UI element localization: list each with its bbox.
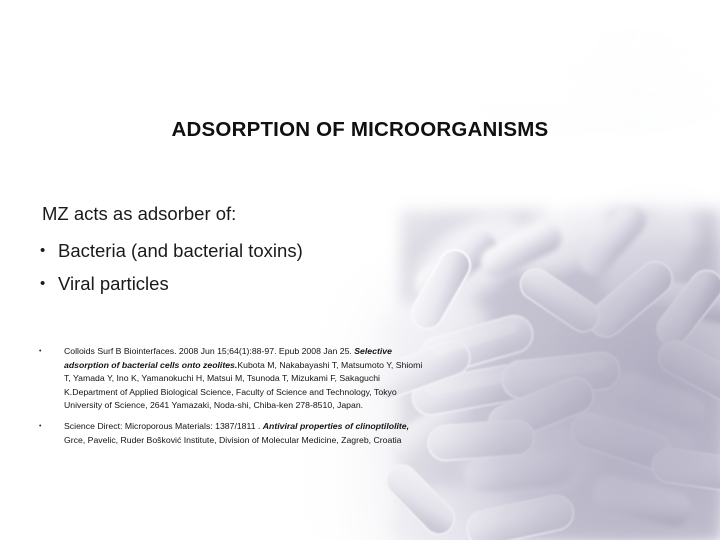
list-item: • Bacteria (and bacterial toxins) [40, 237, 460, 264]
list-item: • Science Direct: Microporous Materials:… [34, 420, 426, 447]
stray-droplet [567, 27, 577, 37]
bullet-dot-icon: • [40, 270, 58, 297]
reference-part1: Science Direct: Microporous Materials: 1… [64, 421, 263, 431]
bullet-label: Bacteria (and bacterial toxins) [58, 237, 303, 264]
list-item: • Viral particles [40, 270, 460, 297]
reference-entry: Science Direct: Microporous Materials: 1… [64, 420, 426, 447]
lead-statement: MZ acts as adsorber of: [42, 203, 236, 225]
reference-part2: Grce, Pavelic, Ruder Bošković Institute,… [64, 435, 402, 445]
reference-list: • Colloids Surf B Biointerfaces. 2008 Ju… [34, 345, 426, 454]
bullet-dot-icon: • [34, 345, 64, 359]
bullet-dot-icon: • [40, 237, 58, 264]
list-item: • Colloids Surf B Biointerfaces. 2008 Ju… [34, 345, 426, 413]
bullet-dot-icon: • [34, 420, 64, 434]
bullet-label: Viral particles [58, 270, 169, 297]
reference-emphasis: Antiviral properties of clinoptilolite, [263, 421, 409, 431]
reference-entry: Colloids Surf B Biointerfaces. 2008 Jun … [64, 345, 426, 413]
reference-part1: Colloids Surf B Biointerfaces. 2008 Jun … [64, 346, 354, 356]
slide: ADSORPTION OF MICROORGANISMS MZ acts as … [0, 0, 720, 540]
bullet-list: • Bacteria (and bacterial toxins) • Vira… [40, 237, 460, 303]
slide-title: ADSORPTION OF MICROORGANISMS [0, 118, 720, 142]
microbe-haze-lower [390, 290, 720, 540]
